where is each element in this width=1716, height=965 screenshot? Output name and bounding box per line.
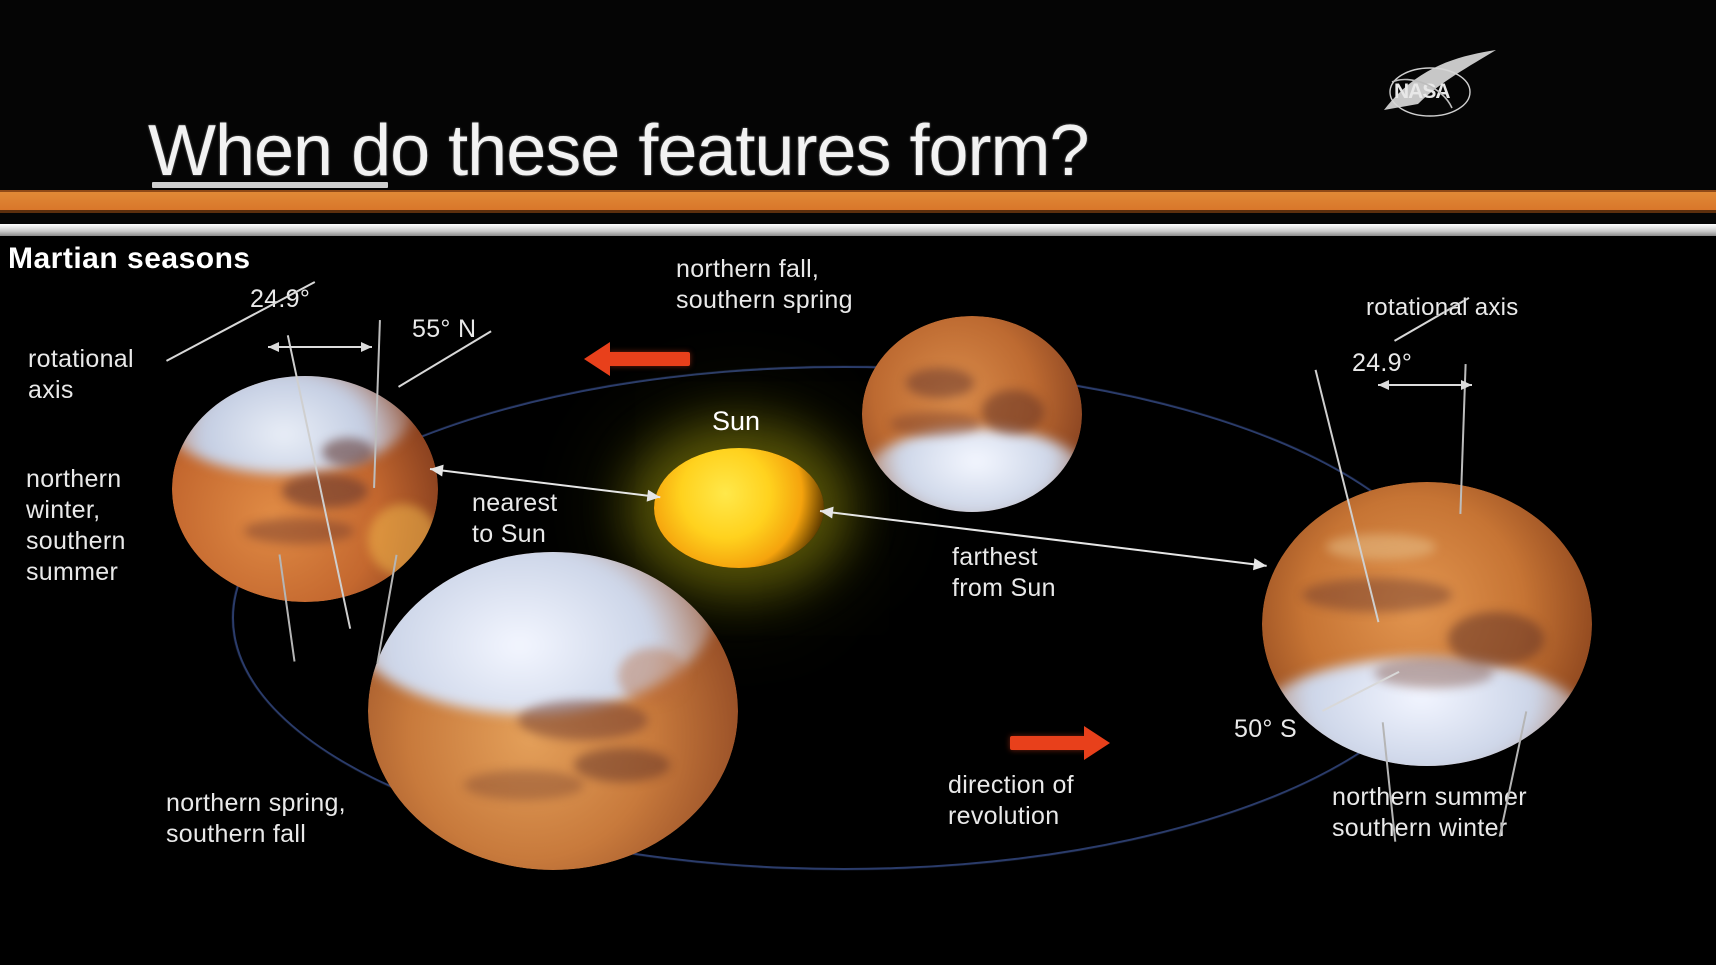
revolution-arrow-top bbox=[608, 352, 690, 366]
mars-globe-top bbox=[862, 316, 1082, 512]
season-label-bottom: northern spring, southern fall bbox=[166, 788, 346, 850]
farthest-from-sun-label: farthest from Sun bbox=[952, 542, 1056, 604]
sun-label: Sun bbox=[712, 406, 760, 437]
mars-globe-bottom bbox=[368, 552, 738, 870]
nasa-logo: NASA bbox=[1378, 48, 1498, 128]
martian-seasons-diagram: Martian seasons Sun 24.9° rotational axi… bbox=[0, 236, 1716, 965]
divider-bar bbox=[0, 224, 1716, 236]
direction-of-revolution-label: direction of revolution bbox=[948, 770, 1074, 832]
nearest-to-sun-label: nearest to Sun bbox=[472, 488, 558, 550]
revolution-arrow-bottom bbox=[1010, 736, 1086, 750]
axis-leader-left bbox=[166, 281, 315, 362]
latitude-north-label: 55° N bbox=[412, 314, 476, 345]
latitude-south-label: 50° S bbox=[1234, 714, 1297, 745]
title-underline bbox=[152, 182, 388, 188]
tilt-angle-right: 24.9° bbox=[1352, 348, 1412, 379]
tilt-angle-arrow-left bbox=[268, 346, 372, 348]
rotational-axis-label-right: rotational axis bbox=[1366, 292, 1519, 323]
page-title: When do these features form? bbox=[148, 110, 1089, 192]
tilt-angle-arrow-right bbox=[1378, 384, 1472, 386]
season-label-left: northern winter, southern summer bbox=[26, 464, 126, 588]
diagram-heading: Martian seasons bbox=[8, 242, 251, 276]
season-label-right: northern summer southern winter bbox=[1332, 782, 1527, 844]
sun bbox=[654, 448, 824, 568]
rotational-axis-label-left: rotational axis bbox=[28, 344, 134, 406]
slide-canvas: When do these features form? NASA Martia… bbox=[0, 0, 1716, 965]
season-label-top: northern fall, southern spring bbox=[676, 254, 853, 316]
mars-globe-right bbox=[1262, 482, 1592, 766]
accent-bar bbox=[0, 190, 1716, 213]
